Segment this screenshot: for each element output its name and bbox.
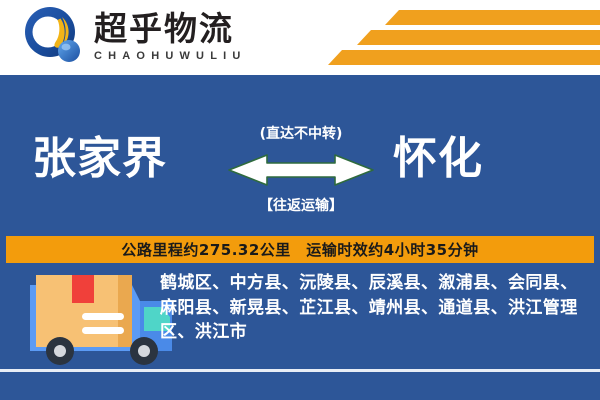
brand-logo: 超乎物流 CHAOHUWULIU xyxy=(22,6,247,68)
route-arrow-block: (直达不中转) 【往返运输】 xyxy=(222,115,380,230)
route-note-roundtrip: 【往返运输】 xyxy=(222,199,380,213)
coverage-district-list: 鹤城区、中方县、沅陵县、辰溪县、溆浦县、会同县、麻阳县、新晃县、芷江县、靖州县、… xyxy=(160,271,584,345)
header: 超乎物流 CHAOHUWULIU xyxy=(0,0,600,75)
ground-divider xyxy=(0,369,600,372)
route-section: 张家界 (直达不中转) 【往返运输】 怀化 xyxy=(0,115,600,230)
delivery-truck-icon xyxy=(22,265,172,370)
circle-crescent-logo-icon xyxy=(22,6,86,68)
info-bar: 公路里程约275.32公里 运输时效约4小时35分钟 xyxy=(6,236,594,263)
stripe-1 xyxy=(385,10,600,25)
brand-name-en: CHAOHUWULIU xyxy=(94,50,247,62)
destination-city: 怀化 xyxy=(393,137,483,181)
origin-city: 张家界 xyxy=(32,137,167,181)
brand-name-cn: 超乎物流 xyxy=(94,12,247,47)
logistics-route-banner: 超乎物流 CHAOHUWULIU 张家界 (直达不中转) xyxy=(0,0,600,400)
distance-duration-text: 公路里程约275.32公里 运输时效约4小时35分钟 xyxy=(121,239,478,260)
decorative-stripes xyxy=(305,8,600,68)
stripe-3 xyxy=(328,50,600,65)
double-headed-arrow-icon xyxy=(222,146,380,191)
main-blue-panel: 张家界 (直达不中转) 【往返运输】 怀化 公路里程约275.32公里 运输时效… xyxy=(0,75,600,400)
stripe-2 xyxy=(357,30,600,45)
brand-text: 超乎物流 CHAOHUWULIU xyxy=(94,12,247,62)
route-note-direct: (直达不中转) xyxy=(222,127,380,141)
